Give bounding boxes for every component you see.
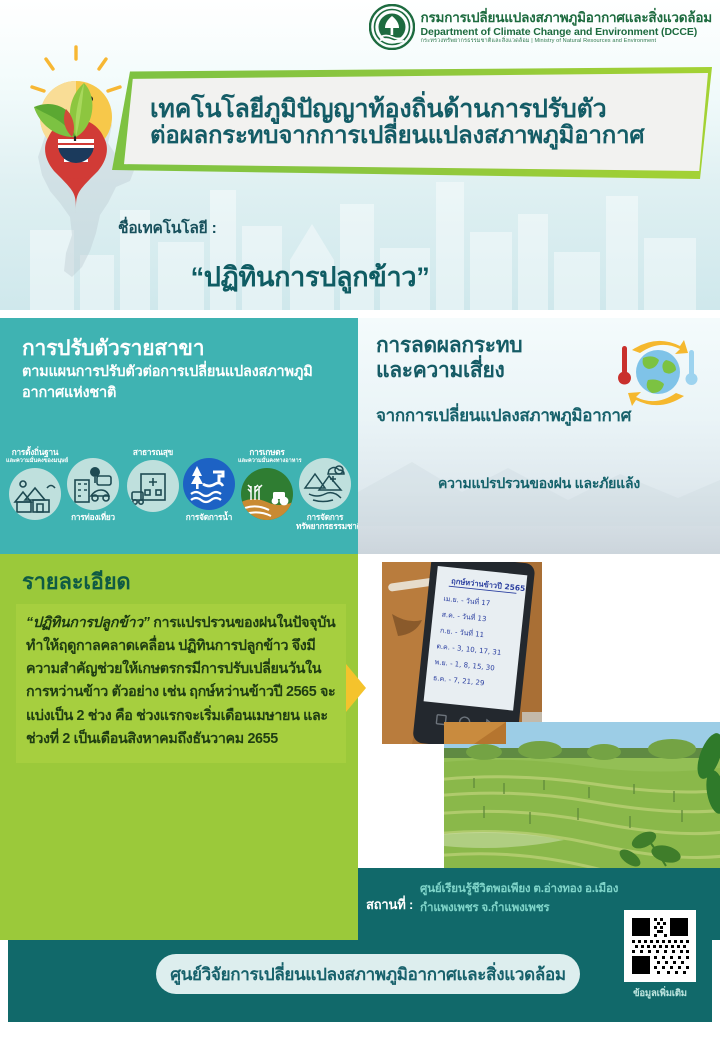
public-health-icon (127, 460, 179, 512)
mitigation-title-line1: การลดผลกระทบ (376, 334, 522, 357)
sector-item-natural-resources[interactable]: การจัดการ ทรัพยากรธรรมชาติ (296, 458, 354, 531)
sector-panel-title: การปรับตัวรายสาขา (22, 332, 204, 365)
details-text: การแปรปรวนของฝนในปัจจุบันทำให้ฤดูกาลคลาด… (26, 615, 335, 747)
tech-name-value: “ปฏิทินการปลูกข้าว” (0, 255, 620, 298)
header-band: กรมการเปลี่ยนแปลงสภาพภูมิอากาศและสิ่งแวด… (0, 0, 720, 310)
lightbulb-leaf-pin-icon (12, 45, 140, 225)
sector-label-natural-resources: การจัดการ (296, 513, 354, 522)
sector-item-tourism[interactable]: การท่องเที่ยว (64, 458, 122, 522)
footer-band: ศูนย์วิจัยการเปลี่ยนแปลงสภาพภูมิอากาศและ… (8, 940, 712, 1022)
sector-label-health: สาธารณสุข (124, 448, 182, 457)
sector-label-water: การจัดการน้ำ (180, 513, 238, 522)
sector-label-settlement: การตั้งถิ่นฐาน (6, 448, 64, 457)
org-ministry: กระทรวงทรัพยากรธรรมชาติและสิ่งแวดล้อม | … (421, 38, 712, 44)
mitigation-title-line2: และความเสี่ยง (376, 359, 504, 382)
phone-rice-calendar-photo: ฤกษ์หว่านข้าวปี 2565 เม.ย. - วันที่ 17 ส… (382, 562, 542, 744)
natural-resource-management-icon (299, 458, 351, 510)
water-management-icon (183, 458, 235, 510)
dcce-seal-icon (369, 4, 415, 50)
sector-panel-subtitle: ตามแผนการปรับตัวต่อการเปลี่ยนแปลงสภาพภูม… (22, 362, 346, 404)
details-body: “ปฏิทินการปลูกข้าว” การแปรปรวนของฝนในปัจ… (16, 604, 346, 763)
location-line2: กำแพงเพชร จ.กำแพงเพชร (420, 901, 549, 914)
sector-item-water[interactable]: การจัดการน้ำ (180, 458, 238, 522)
globe-thermometer-icon (610, 332, 706, 412)
details-panel: รายละเอียด “ปฏิทินการปลูกข้าว” การแปรปรว… (0, 554, 358, 940)
sector-item-agriculture[interactable]: การเกษตร และความมั่นคงทางอาหาร (238, 448, 296, 520)
sector-adaptation-panel: การปรับตัวรายสาขา ตามแผนการปรับตัวต่อการ… (0, 318, 358, 554)
research-center-name: ศูนย์วิจัยการเปลี่ยนแปลงสภาพภูมิอากาศและ… (170, 961, 566, 988)
sector-sublabel-natural-resources: ทรัพยากรธรรมชาติ (296, 522, 354, 531)
thermometer-hot-icon (618, 346, 631, 385)
tech-name-label: ชื่อเทคโนโลยี : (118, 215, 217, 240)
sector-sublabel-agriculture: และความมั่นคงทางอาหาร (238, 457, 296, 465)
poster-title-line2: ต่อผลกระทบจากการเปลี่ยนแปลงสภาพภูมิอากาศ (150, 123, 708, 150)
details-emphasis: “ปฏิทินการปลูกข้าว” (26, 615, 150, 631)
sector-icon-row: การตั้งถิ่นฐาน และความมั่นคงของมนุษย์ (0, 446, 358, 554)
location-label: สถานที่ : (366, 894, 413, 915)
sector-label-tourism: การท่องเที่ยว (64, 513, 122, 522)
title-ribbon: เทคโนโลยีภูมิปัญญาท้องถิ่นด้านการปรับตัว… (124, 73, 708, 171)
sector-sublabel-settlement: และความมั่นคงของมนุษย์ (6, 457, 64, 465)
dcce-logo: กรมการเปลี่ยนแปลงสภาพภูมิอากาศและสิ่งแวด… (369, 4, 712, 50)
sector-item-health[interactable]: สาธารณสุข (124, 448, 182, 512)
org-name-th: กรมการเปลี่ยนแปลงสภาพภูมิอากาศและสิ่งแวด… (421, 10, 712, 26)
qr-caption: ข้อมูลเพิ่มเติม (620, 986, 700, 1001)
rice-paddy-field-photo (444, 722, 720, 868)
poster-title-line1: เทคโนโลยีภูมิปัญญาท้องถิ่นด้านการปรับตัว (150, 95, 708, 123)
mitigation-title: การลดผลกระทบ และความเสี่ยง (376, 334, 596, 384)
location-line1: ศูนย์เรียนรู้ชีวิตพอเพียง ต.อ่างทอง อ.เม… (420, 882, 618, 895)
agriculture-food-security-icon (241, 468, 293, 520)
poster-root: กรมการเปลี่ยนแปลงสภาพภูมิอากาศและสิ่งแวด… (0, 0, 720, 1040)
org-name-en: Department of Climate Change and Environ… (421, 26, 712, 38)
mitigation-subtitle: จากการเปลี่ยนแปลงสภาพภูมิอากาศ (376, 402, 631, 429)
qr-code-icon[interactable] (624, 910, 696, 982)
qr-code-block[interactable]: ข้อมูลเพิ่มเติม (620, 910, 700, 1014)
thermometer-cold-icon (686, 350, 698, 385)
sector-item-settlement[interactable]: การตั้งถิ่นฐาน และความมั่นคงของมนุษย์ (6, 448, 64, 520)
mitigation-note: ความแปรปรวนของฝน และภัยแล้ง (358, 473, 720, 495)
tourism-icon (67, 458, 119, 510)
details-heading: รายละเอียด (22, 564, 130, 599)
research-center-pill[interactable]: ศูนย์วิจัยการเปลี่ยนแปลงสภาพภูมิอากาศและ… (156, 954, 580, 994)
sector-label-agriculture: การเกษตร (238, 448, 296, 457)
human-settlement-icon (9, 468, 61, 520)
mitigation-panel: การลดผลกระทบ และความเสี่ยง จากการเปลี่ยน… (358, 318, 720, 554)
